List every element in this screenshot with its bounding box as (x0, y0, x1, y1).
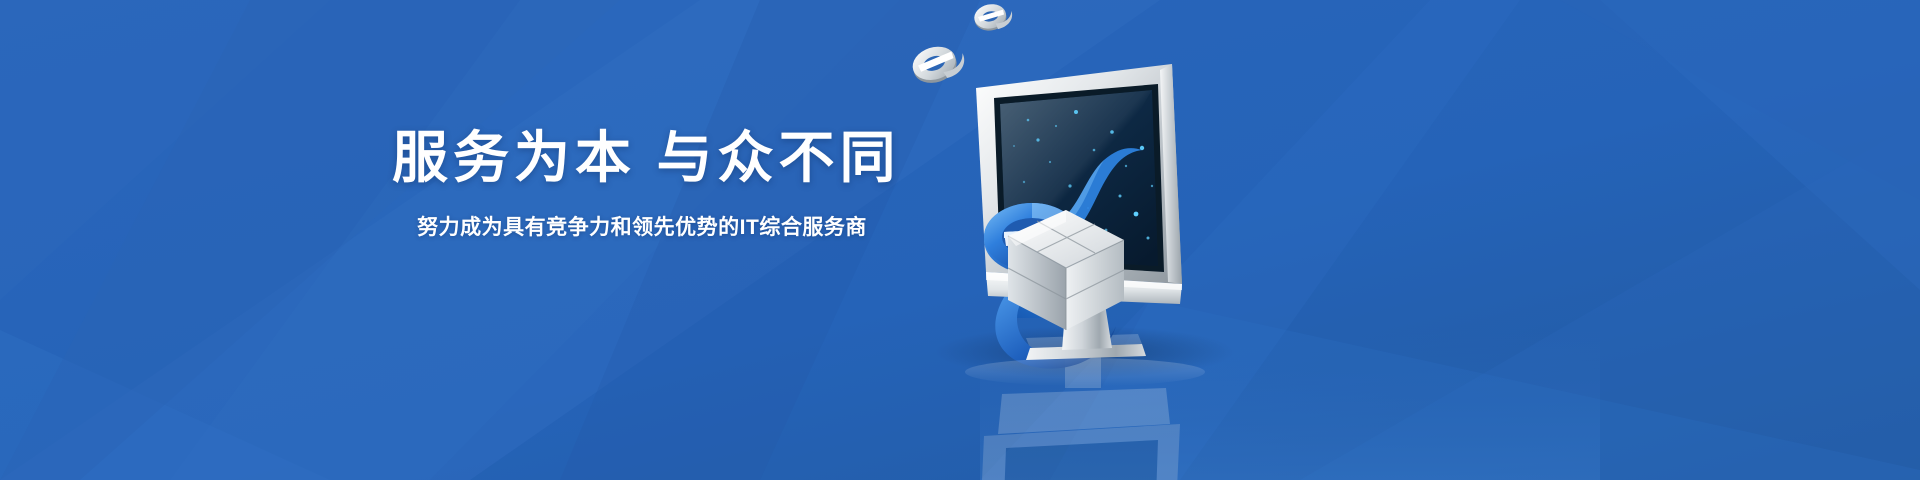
hero-banner: 服务为本 与众不同 努力成为具有竞争力和领先优势的IT综合服务商 (0, 0, 1920, 480)
banner-illustration (880, 0, 1300, 480)
floor-highlight (965, 358, 1205, 386)
floating-browser-logo-large (908, 39, 969, 88)
banner-subheadline: 努力成为具有竞争力和领先优势的IT综合服务商 (392, 214, 892, 241)
floating-browser-logo-small (972, 0, 1015, 33)
banner-headline: 服务为本 与众不同 (392, 126, 892, 190)
banner-copy: 服务为本 与众不同 努力成为具有竞争力和领先优势的IT综合服务商 (392, 126, 892, 242)
